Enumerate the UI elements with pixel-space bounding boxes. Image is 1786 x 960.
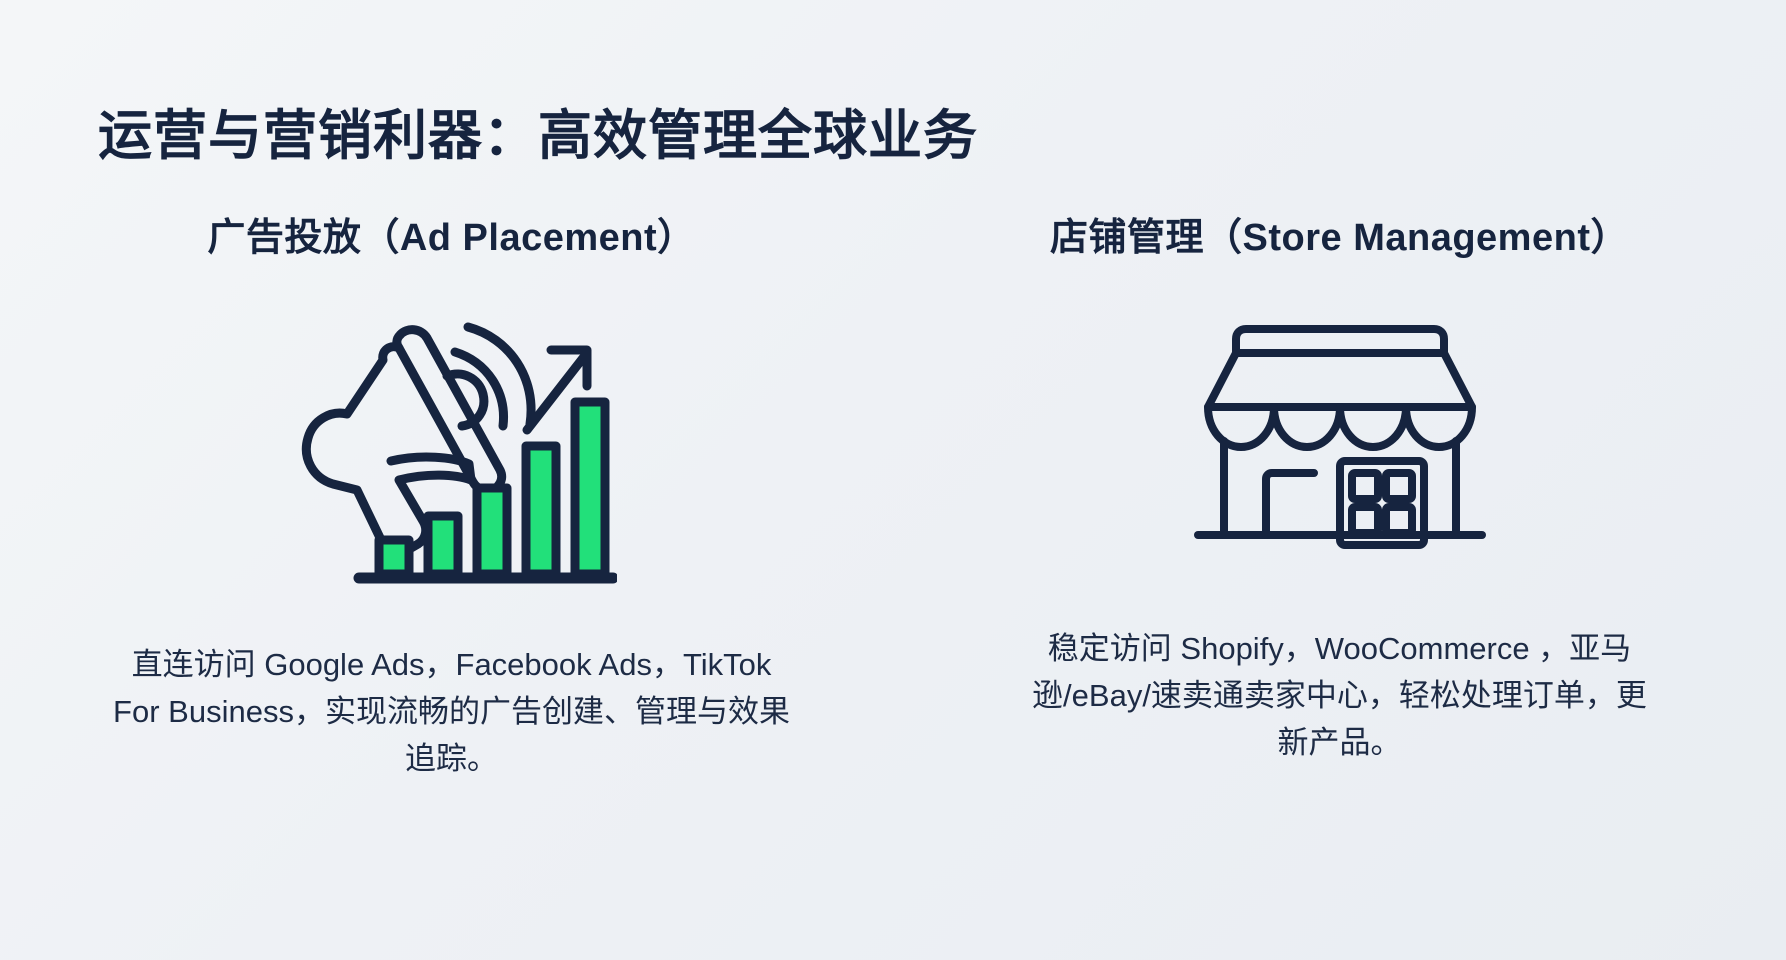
megaphone-growth-chart-icon — [287, 305, 617, 595]
column-body-store-management: 稳定访问 Shopify，WooCommerce ，亚马逊/eBay/速卖通卖家… — [1020, 625, 1660, 766]
awning-icon — [1208, 353, 1472, 407]
page-title: 运营与营销利器：高效管理全球业务 — [98, 104, 978, 169]
storefront-icon — [1190, 289, 1490, 579]
feature-column-ad-placement: 广告投放（Ad Placement） — [0, 215, 893, 813]
door-icon — [1266, 473, 1314, 535]
column-heading-ad-placement: 广告投放（Ad Placement） — [207, 215, 695, 263]
bar-chart-icon — [359, 402, 613, 578]
roof-icon — [1236, 329, 1444, 353]
column-heading-store-management: 店铺管理（Store Management） — [1050, 215, 1629, 263]
feature-columns: 广告投放（Ad Placement） — [0, 215, 1786, 813]
feature-column-store-management: 店铺管理（Store Management） — [893, 215, 1786, 813]
slide-root: 运营与营销利器：高效管理全球业务 广告投放（Ad Placement） — [0, 0, 1786, 960]
column-body-ad-placement: 直连访问 Google Ads，Facebook Ads，TikTok For … — [112, 641, 792, 782]
